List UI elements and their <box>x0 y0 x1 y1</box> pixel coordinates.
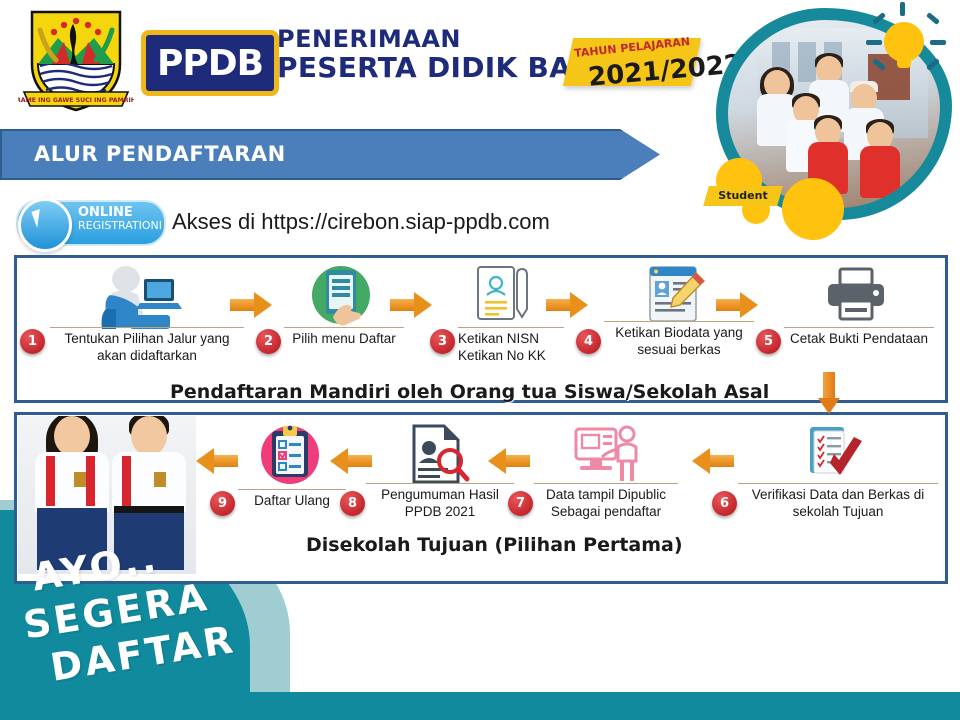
tablet-menu-icon <box>309 265 373 332</box>
flow-row-1-caption: Pendaftaran Mandiri oleh Orang tua Siswa… <box>170 381 769 403</box>
step-label-5: Cetak Bukti Pendataan <box>784 327 934 348</box>
clipboard-checklist-icon <box>259 423 321 490</box>
section-banner: ALUR PENDAFTARAN <box>0 129 664 180</box>
step-number-4: 4 <box>576 329 601 354</box>
step-label-6: Verifikasi Data dan Berkas di sekolah Tu… <box>738 483 938 521</box>
cirebon-city-emblem-icon: RAME ING GAWE SUCI ING PAMRIH <box>18 6 134 114</box>
id-card-pen-icon <box>474 265 536 330</box>
flow-step-7: 7 Data tampil Dipublic Sebagai pendaftar <box>530 423 678 503</box>
svg-text:RAME ING GAWE SUCI ING PAMRIH: RAME ING GAWE SUCI ING PAMRIH <box>18 97 134 104</box>
badge-line-2: REGISTRATIONI <box>78 220 162 232</box>
step-number-9: 9 <box>210 491 235 516</box>
flow-step-6: 6 Verifikasi Data dan Berkas di sekolah … <box>734 423 938 503</box>
flow-step-5: 5 Cetak Bukti Pendataan <box>778 265 934 335</box>
section-banner-title: ALUR PENDAFTARAN <box>34 142 286 166</box>
step-label-1: Tentukan Pilihan Jalur yang akan didafta… <box>50 327 244 365</box>
person-at-laptop-icon <box>92 265 188 334</box>
step-number-5: 5 <box>756 329 781 354</box>
printer-icon <box>824 267 888 330</box>
checklist-check-icon <box>804 423 872 488</box>
student-figure <box>858 122 902 208</box>
online-registration-text: ONLINE REGISTRATIONI <box>78 206 162 231</box>
ppdb-logo-text: PPDB <box>157 43 263 84</box>
flow-arrow-right <box>390 292 432 318</box>
monitor-presenter-icon <box>572 423 640 490</box>
badge-line-1: ONLINE <box>78 206 162 220</box>
flow-arrow-left <box>196 448 238 474</box>
bottom-teal-bar <box>0 692 960 720</box>
student-photo-tag: Student <box>703 186 783 206</box>
step-label-4: Ketikan Biodata yang sesuai berkas <box>604 321 754 359</box>
flow-arrow-right <box>716 292 758 318</box>
infographic-page: AYO.. SEGERA DAFTAR RAME ING GAWE SUCI <box>0 0 960 720</box>
step-label-8: Pengumuman Hasil PPDB 2021 <box>366 483 514 521</box>
step-label-2: Pilih menu Daftar <box>284 327 404 348</box>
step-number-3: 3 <box>430 329 455 354</box>
flow-step-1: 1 Tentukan Pilihan Jalur yang akan didaf… <box>44 265 244 335</box>
flow-arrow-left <box>692 448 734 474</box>
header-title-line-1: PENERIMAAN <box>277 27 616 51</box>
step-label-7: Data tampil Dipublic Sebagai pendaftar <box>534 483 678 521</box>
step-number-7: 7 <box>508 491 533 516</box>
step-number-1: 1 <box>20 329 45 354</box>
flow-row-2-caption: Disekolah Tujuan (Pilihan Pertama) <box>306 534 683 556</box>
flow-arrow-left <box>488 448 530 474</box>
flow-arrow-right <box>546 292 588 318</box>
step-label-9: Daftar Ulang <box>238 489 346 510</box>
step-number-2: 2 <box>256 329 281 354</box>
document-search-icon <box>406 423 470 490</box>
flow-step-2: 2 Pilih menu Daftar <box>278 265 404 335</box>
student-tag-label: Student <box>706 186 780 206</box>
step-label-3: Ketikan NISN Ketikan No KK <box>458 327 564 365</box>
lightbulb-icon <box>884 22 924 70</box>
access-url-text: Akses di https://cirebon.siap-ppdb.com <box>172 209 550 235</box>
yellow-dot <box>782 178 844 240</box>
ppdb-logo: PPDB <box>141 30 279 96</box>
step-number-6: 6 <box>712 491 737 516</box>
flow-arrow-down <box>818 372 840 416</box>
step-number-8: 8 <box>340 491 365 516</box>
flow-arrow-right <box>230 292 272 318</box>
